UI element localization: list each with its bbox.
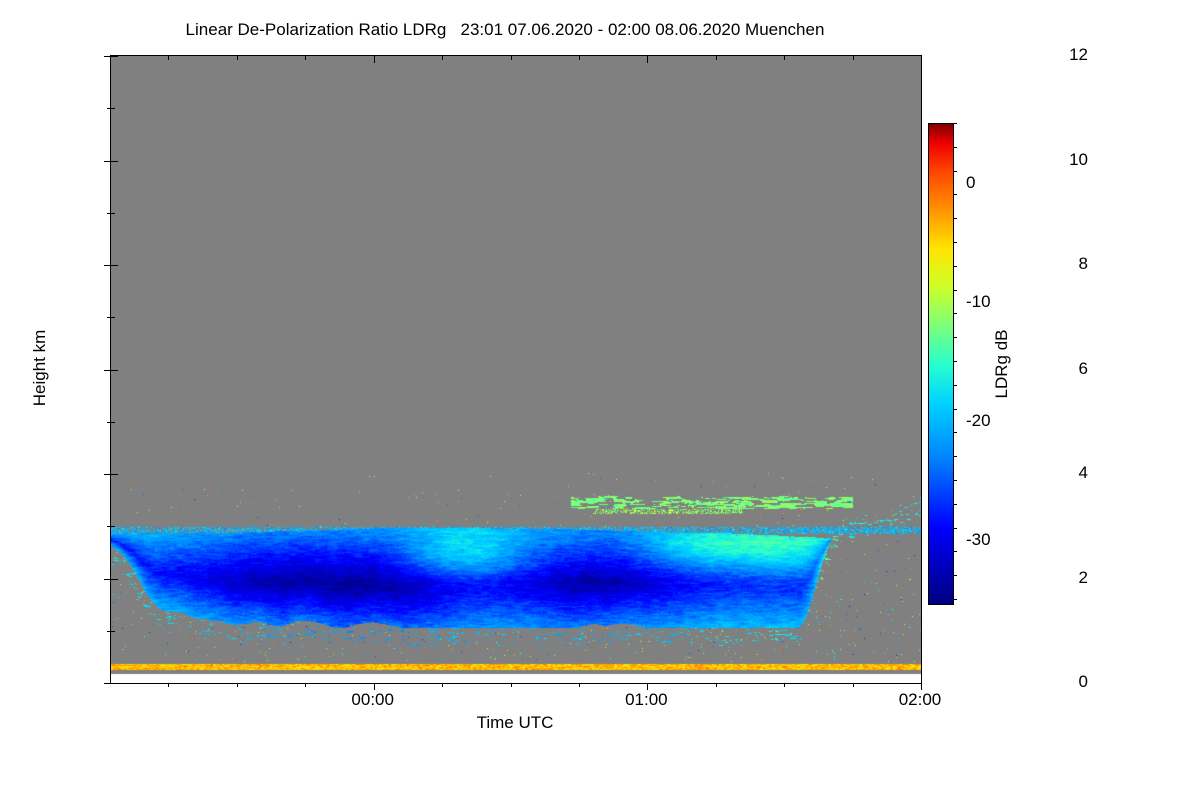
colorbar-title: LDRg dB (992, 330, 1012, 399)
colorbar-tick-label: -10 (966, 292, 991, 312)
x-tick-minor (853, 683, 854, 687)
x-tick-top (305, 56, 306, 60)
x-tick-minor (305, 683, 306, 687)
plot-area[interactable] (110, 55, 922, 684)
colorbar-tick-minor (954, 147, 957, 148)
x-tick-top (579, 56, 580, 60)
colorbar-tick-label: -20 (966, 411, 991, 431)
colorbar-tick-minor (954, 337, 957, 338)
y-tick-right (111, 108, 115, 109)
y-tick-right (111, 161, 118, 162)
x-tick-top (784, 56, 785, 60)
x-tick-top (511, 56, 512, 60)
colorbar-tick-minor (954, 385, 957, 386)
y-tick-right (111, 474, 118, 475)
colorbar-tick-minor (954, 551, 957, 552)
colorbar-tick-label: 0 (966, 173, 975, 193)
figure-root: Linear De-Polarization Ratio LDRg 23:01 … (0, 0, 1200, 800)
colorbar-tick-minor (954, 599, 957, 600)
heatmap-canvas[interactable] (111, 56, 921, 683)
x-tick-label: 02:00 (860, 690, 980, 710)
x-axis-title: Time UTC (477, 713, 554, 733)
colorbar-tick-minor (954, 432, 957, 433)
colorbar-tick-minor (954, 171, 957, 172)
x-tick-top (647, 56, 648, 63)
y-tick-major (104, 56, 111, 57)
colorbar-tick-label: -30 (966, 530, 991, 550)
y-tick-label: 10 (1028, 150, 1088, 170)
x-tick-major (647, 683, 648, 690)
y-tick-right (111, 56, 118, 57)
y-tick-major (104, 161, 111, 162)
y-tick-right (111, 317, 115, 318)
y-tick-right (111, 265, 118, 266)
colorbar-tick-minor (954, 528, 957, 529)
y-tick-right (111, 422, 115, 423)
y-tick-label: 4 (1028, 463, 1088, 483)
y-axis-title: Height km (30, 330, 50, 407)
colorbar-tick-minor (954, 480, 957, 481)
y-tick-major (104, 474, 111, 475)
colorbar-tick-minor (954, 194, 957, 195)
colorbar-tick-minor (954, 409, 957, 410)
x-tick-minor (168, 683, 169, 687)
x-tick-top (237, 56, 238, 60)
y-tick-label: 6 (1028, 359, 1088, 379)
x-tick-minor (442, 683, 443, 687)
x-tick-major (921, 683, 922, 690)
x-tick-label: 01:00 (586, 690, 706, 710)
y-tick-right (111, 370, 118, 371)
page-title: Linear De-Polarization Ratio LDRg 23:01 … (0, 20, 1010, 40)
y-tick-label: 12 (1028, 45, 1088, 65)
colorbar-tick-minor (954, 290, 957, 291)
colorbar-tick-minor (954, 504, 957, 505)
y-tick-major (104, 370, 111, 371)
x-tick-top (716, 56, 717, 60)
x-tick-major (374, 683, 375, 690)
y-tick-right (111, 579, 118, 580)
y-tick-major (104, 265, 111, 266)
y-tick-major (104, 579, 111, 580)
colorbar-tick-minor (954, 456, 957, 457)
colorbar-tick-minor (954, 575, 957, 576)
colorbar-tick-minor (954, 361, 957, 362)
y-tick-right (111, 683, 118, 684)
y-tick-right (111, 526, 115, 527)
colorbar-tick-minor (954, 266, 957, 267)
x-tick-minor (716, 683, 717, 687)
y-tick-label: 0 (1028, 672, 1088, 692)
x-tick-minor (237, 683, 238, 687)
x-tick-top (168, 56, 169, 60)
colorbar-tick-minor (954, 218, 957, 219)
y-tick-right (111, 631, 115, 632)
y-tick-major (104, 683, 111, 684)
colorbar-gradient (928, 123, 954, 605)
x-tick-top (921, 56, 922, 63)
colorbar-tick-minor (954, 123, 957, 124)
y-tick-right (111, 213, 115, 214)
colorbar-tick-minor (954, 313, 957, 314)
colorbar-tick-minor (954, 242, 957, 243)
x-tick-minor (511, 683, 512, 687)
x-tick-minor (784, 683, 785, 687)
x-tick-minor (579, 683, 580, 687)
x-tick-top (442, 56, 443, 60)
x-tick-top (853, 56, 854, 60)
x-tick-label: 00:00 (313, 690, 433, 710)
y-tick-label: 8 (1028, 254, 1088, 274)
y-tick-label: 2 (1028, 568, 1088, 588)
x-tick-top (374, 56, 375, 63)
colorbar[interactable]: 0-10-20-30 (928, 123, 954, 605)
